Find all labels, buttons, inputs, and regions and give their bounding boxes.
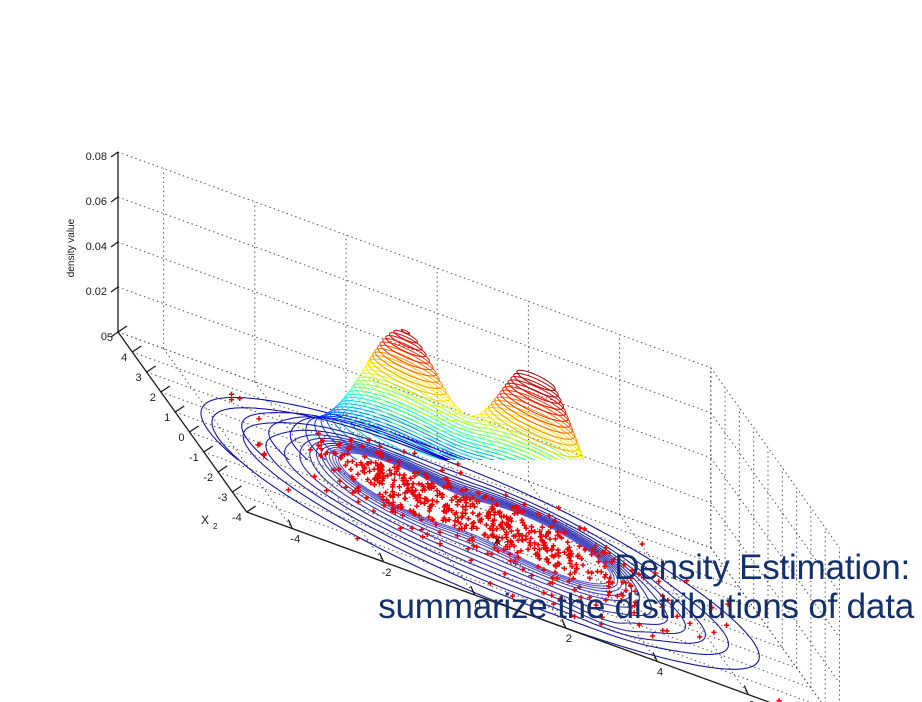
x2-tick-label: 0 xyxy=(178,432,184,444)
x2-tick-label: -1 xyxy=(189,452,199,464)
x2-tick-label: -2 xyxy=(203,472,213,484)
x2-tick-label: 5 xyxy=(107,332,113,344)
x2-tick-label: -3 xyxy=(218,492,228,504)
x2-tick-label: 4 xyxy=(121,352,127,364)
x2-tick-label: -4 xyxy=(232,512,242,524)
x1-tick-label: -4 xyxy=(290,534,300,546)
caption-line-2: summarize the distributions of data xyxy=(0,587,916,626)
x1-tick-label: 2 xyxy=(566,633,572,645)
z-tick-label: 0.08 xyxy=(86,151,107,163)
x2-tick-label: 1 xyxy=(164,412,170,424)
z-tick-label: 0.06 xyxy=(86,196,107,208)
z-tick-label: 0.04 xyxy=(86,241,107,253)
x2-tick-label: 2 xyxy=(150,392,156,404)
x2-axis-title: X xyxy=(201,513,209,527)
caption-line-1: Density Estimation: xyxy=(0,548,916,587)
z-tick-label: 0.02 xyxy=(86,286,107,298)
caption: Density Estimation: summarize the distri… xyxy=(0,548,916,626)
x1-axis-title: X xyxy=(493,534,501,548)
x1-tick-label: 4 xyxy=(657,666,663,678)
z-axis-title: density value xyxy=(66,218,77,277)
density-estimation-figure: 00.020.040.060.08543210-1-2-3-4-4-202468… xyxy=(0,0,922,702)
x2-axis-subscript: 2 xyxy=(213,522,218,531)
x2-tick-label: 3 xyxy=(135,372,141,384)
